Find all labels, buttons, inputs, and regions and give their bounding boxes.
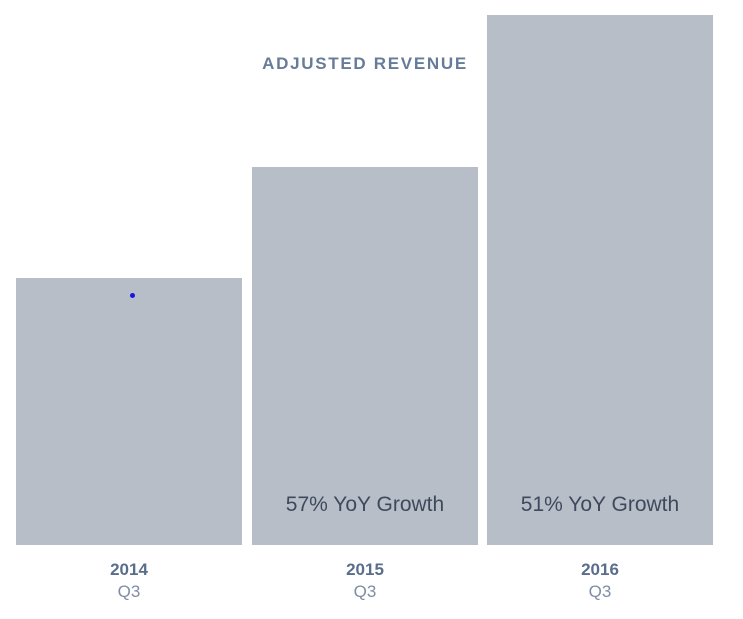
axis-label-2014: 2014 Q3 [16, 559, 242, 603]
bar-rect-2014[interactable] [16, 278, 242, 545]
axis-label-2016: 2016 Q3 [487, 559, 713, 603]
axis-year-2016: 2016 [487, 559, 713, 581]
axis-period-2014: Q3 [16, 581, 242, 603]
axis-period-2016: Q3 [487, 581, 713, 603]
axis-label-2015: 2015 Q3 [252, 559, 478, 603]
axis-year-2014: 2014 [16, 559, 242, 581]
axis-period-2015: Q3 [252, 581, 478, 603]
bar-rect-2016[interactable]: 51% YoY Growth [487, 15, 713, 545]
bar-growth-label-2015: 57% YoY Growth [252, 493, 478, 517]
axis-year-2015: 2015 [252, 559, 478, 581]
bar-group-2014: $75M 2014 Q3 [16, 0, 242, 619]
bar-growth-label-2016: 51% YoY Growth [487, 493, 713, 517]
bar-group-2015: $118M 57% YoY Growth 2015 Q3 [252, 0, 478, 619]
bar-rect-2015[interactable]: 57% YoY Growth [252, 167, 478, 545]
adjusted-revenue-bar-chart: ADJUSTED REVENUE $75M 2014 Q3 $118M 57% … [0, 0, 743, 619]
pointer-dot-icon [130, 293, 135, 298]
plot-area: $75M 2014 Q3 $118M 57% YoY Growth 2015 Q… [0, 0, 743, 619]
bar-group-2016: $178M 51% YoY Growth 2016 Q3 [487, 0, 713, 619]
